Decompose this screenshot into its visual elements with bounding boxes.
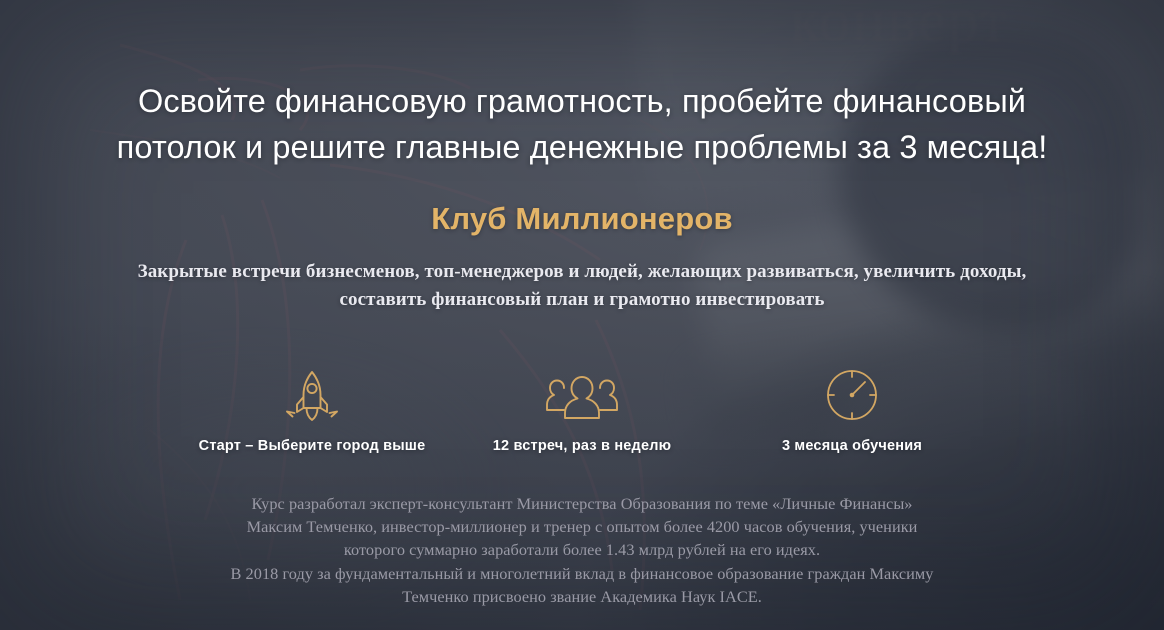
lead-line-2: составить финансовый план и грамотно инв… <box>112 286 1052 314</box>
footnote-text: Курс разработал эксперт-консультант Мини… <box>182 492 982 609</box>
footnote-line-1: Курс разработал эксперт-консультант Мини… <box>182 492 982 515</box>
hero-section: конверт Освойте финансовую грамотность, … <box>0 0 1164 630</box>
page-headline: Освойте финансовую грамотность, пробейте… <box>0 0 1164 170</box>
feature-label-duration: 3 месяца обучения <box>782 438 922 454</box>
feature-label-meetings: 12 встреч, раз в неделю <box>493 438 671 454</box>
feature-item-meetings: 12 встреч, раз в неделю <box>447 366 717 454</box>
feature-item-duration: 3 месяца обучения <box>717 366 987 454</box>
clock-icon <box>823 366 881 424</box>
feature-label-start: Старт – Выберите город выше <box>199 438 426 454</box>
footnote-line-4: В 2018 году за фундаментальный и многоле… <box>182 562 982 585</box>
feature-item-start: Старт – Выберите город выше <box>177 366 447 454</box>
club-title: Клуб Миллионеров <box>0 201 1164 237</box>
lead-description: Закрытые встречи бизнесменов, топ-менедж… <box>112 258 1052 314</box>
hero-content: Освойте финансовую грамотность, пробейте… <box>0 0 1164 630</box>
rocket-icon <box>281 366 343 424</box>
people-group-icon <box>544 366 620 424</box>
lead-line-1: Закрытые встречи бизнесменов, топ-менедж… <box>112 258 1052 286</box>
headline-line-1: Освойте финансовую грамотность, пробейте… <box>0 78 1164 124</box>
headline-line-2: потолок и решите главные денежные пробле… <box>0 124 1164 170</box>
footnote-line-3: которого суммарно заработали более 1.43 … <box>182 538 982 561</box>
footnote-line-5: Темченко присвоено звание Академика Наук… <box>182 585 982 608</box>
footnote-line-2: Максим Темченко, инвестор-миллионер и тр… <box>182 515 982 538</box>
feature-list: Старт – Выберите город выше 12 встреч, р… <box>0 366 1164 454</box>
